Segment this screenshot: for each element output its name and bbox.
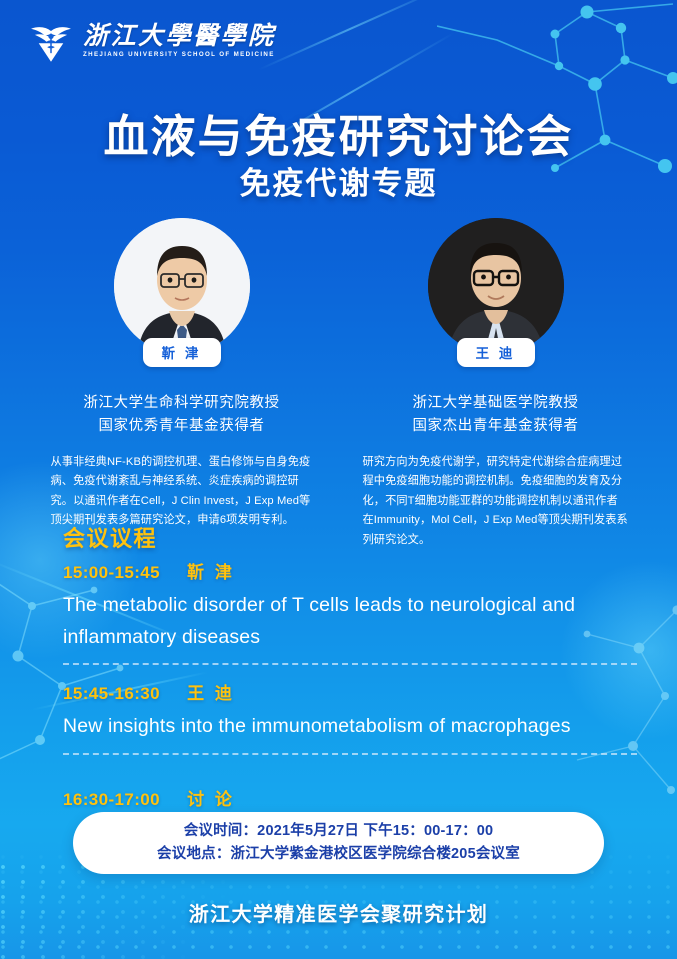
speaker-2-role: 浙江大学基础医学院教授 国家杰出青年基金获得者 [358, 392, 634, 439]
speaker-2-portrait-wrap: 王 迪 [428, 218, 564, 354]
agenda-item-2-talk: New insights into the immunometabolism o… [63, 711, 637, 743]
portrait-illustration-2 [428, 218, 564, 354]
logo-english-text: ZHEJIANG UNIVERSITY SCHOOL OF MEDICINE [83, 52, 276, 58]
page-subtitle: 免疫代谢专题 [0, 158, 677, 203]
agenda-heading: 会议议程 [63, 521, 157, 553]
speaker-2-role-line2: 国家杰出青年基金获得者 [358, 415, 634, 438]
agenda-item-2-speaker: 王 迪 [187, 684, 235, 703]
speaker-1-portrait-wrap: 靳 津 [114, 218, 250, 354]
light-streak-1 [258, 0, 442, 71]
agenda-item-2: 15:45-16:30 王 迪 New insights into the im… [63, 679, 637, 755]
speaker-1-role-line1: 浙江大学生命科学研究院教授 [44, 392, 320, 415]
program-footer: 浙江大学精准医学会聚研究计划 [0, 898, 677, 927]
agenda-item-1-talk: The metabolic disorder of T cells leads … [63, 590, 637, 653]
agenda-divider-2 [63, 753, 637, 755]
agenda-item-3: 16:30-17:00 讨 论 [63, 785, 637, 810]
agenda-item-1-speaker: 靳 津 [187, 563, 235, 582]
caduceus-wings-logo-icon [28, 18, 74, 64]
speaker-card-1: 靳 津 浙江大学生命科学研究院教授 国家优秀青年基金获得者 从事非经典NF-KB… [44, 218, 320, 550]
university-logo: 浙江大學醫學院 ZHEJIANG UNIVERSITY SCHOOL OF ME… [28, 18, 276, 64]
page-title: 血液与免疫研究讨论会 [0, 100, 677, 165]
portrait-photo-wang-di [428, 218, 564, 354]
meeting-info-box: 会议时间：2021年5月27日 下午15：00-17：00 会议地点：浙江大学紫… [73, 812, 604, 874]
poster-root: 浙江大學醫學院 ZHEJIANG UNIVERSITY SCHOOL OF ME… [0, 0, 677, 959]
meeting-time-line: 会议时间：2021年5月27日 下午15：00-17：00 [184, 820, 494, 843]
speaker-1-bio: 从事非经典NF-KB的调控机理、蛋白修饰与自身免疫病、免疫代谢紊乱与神经系统、炎… [51, 453, 313, 531]
speaker-card-2: 王 迪 浙江大学基础医学院教授 国家杰出青年基金获得者 研究方向为免疫代谢学，研… [358, 218, 634, 550]
agenda-divider-1 [63, 663, 637, 665]
agenda-item-2-time: 15:45-16:30 [63, 684, 160, 703]
speaker-1-role-line2: 国家优秀青年基金获得者 [44, 415, 320, 438]
speaker-1-role: 浙江大学生命科学研究院教授 国家优秀青年基金获得者 [44, 392, 320, 439]
speaker-2-name-badge: 王 迪 [457, 338, 535, 367]
speaker-2-bio: 研究方向为免疫代谢学，研究特定代谢综合症病理过程中免疫细胞功能的调控机制。免疫细… [363, 453, 629, 550]
agenda-item-1-time-row: 15:00-15:45 靳 津 [63, 558, 637, 583]
agenda-item-1-time: 15:00-15:45 [63, 563, 160, 582]
agenda-list: 15:00-15:45 靳 津 The metabolic disorder o… [63, 558, 637, 824]
portrait-illustration-1 [114, 218, 250, 354]
meeting-place-line: 会议地点：浙江大学紫金港校区医学院综合楼205会议室 [157, 843, 520, 866]
speaker-1-name-badge: 靳 津 [143, 338, 221, 367]
agenda-item-1: 15:00-15:45 靳 津 The metabolic disorder o… [63, 558, 637, 665]
portrait-photo-jin-jin [114, 218, 250, 354]
agenda-item-3-speaker: 讨 论 [187, 790, 235, 809]
logo-chinese-text: 浙江大學醫學院 [83, 23, 276, 48]
speaker-2-role-line1: 浙江大学基础医学院教授 [358, 392, 634, 415]
speakers-section: 靳 津 浙江大学生命科学研究院教授 国家优秀青年基金获得者 从事非经典NF-KB… [0, 218, 677, 550]
agenda-item-3-time: 16:30-17:00 [63, 790, 160, 809]
agenda-item-2-time-row: 15:45-16:30 王 迪 [63, 679, 637, 704]
agenda-item-3-time-row: 16:30-17:00 讨 论 [63, 785, 637, 810]
